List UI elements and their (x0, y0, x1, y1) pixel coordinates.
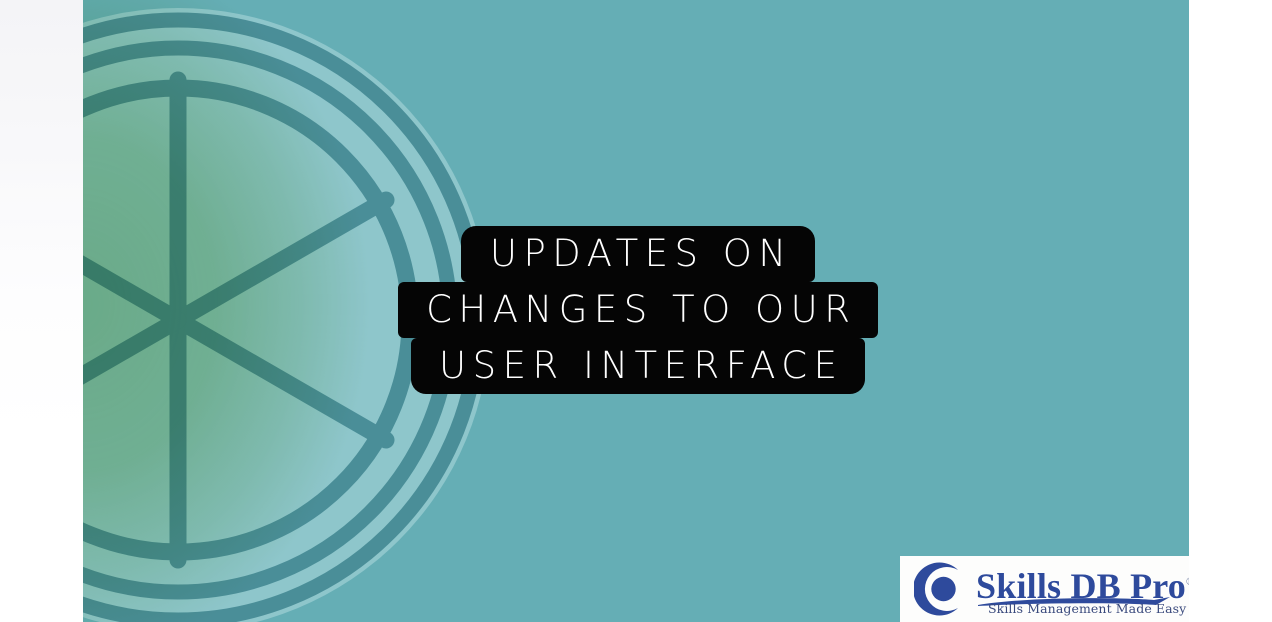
registered-trademark-icon: ® (1186, 576, 1189, 588)
slide-page: UPDATES ON CHANGES TO OUR USER INTERFACE… (0, 0, 1272, 622)
logo-tagline: Skills Management Made Easy (988, 602, 1186, 616)
page-title: UPDATES ON CHANGES TO OUR USER INTERFACE (423, 226, 853, 394)
title-line-2: CHANGES TO OUR (398, 282, 879, 338)
right-margin (1189, 0, 1272, 622)
logo-text-group: Skills DB Pro® Skills Management Made Ea… (976, 560, 1189, 618)
skills-db-pro-circle-mark-icon (914, 560, 972, 618)
brand-logo: Skills DB Pro® Skills Management Made Ea… (900, 556, 1189, 622)
title-line-1: UPDATES ON (461, 226, 814, 282)
left-margin (0, 0, 83, 622)
slide-canvas: UPDATES ON CHANGES TO OUR USER INTERFACE… (83, 0, 1189, 622)
title-line-3: USER INTERFACE (411, 338, 866, 394)
